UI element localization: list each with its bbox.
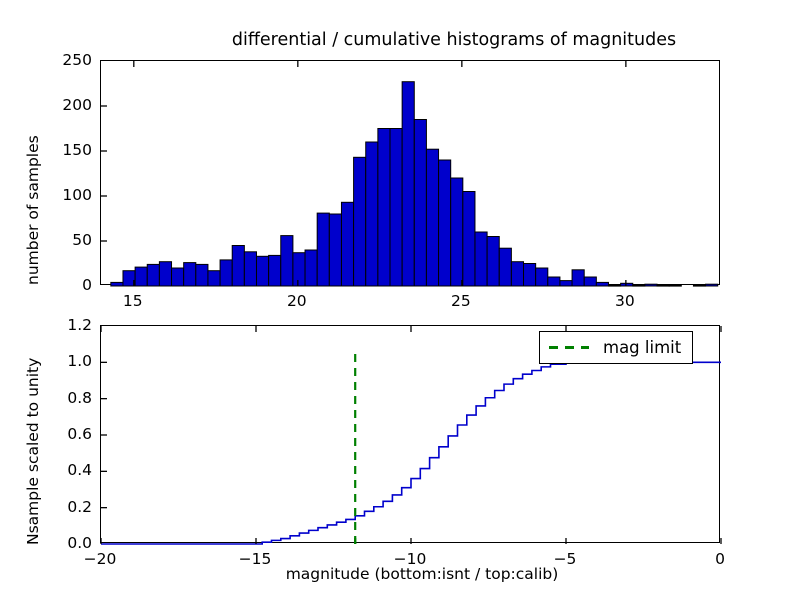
histogram-bar	[693, 285, 705, 286]
x-tick-label-top: 15	[123, 292, 143, 310]
x-tick-label-bottom: −20	[84, 550, 117, 568]
histogram-bar	[220, 260, 232, 286]
histogram-bar	[135, 267, 147, 286]
histogram-bar	[572, 270, 584, 286]
figure-canvas: differential / cumulative histograms of …	[0, 0, 800, 600]
histogram-bar	[560, 281, 572, 286]
histogram-bar	[293, 253, 305, 286]
x-tick-label-bottom: 0	[715, 550, 725, 568]
histogram-bar	[256, 256, 268, 286]
histogram-bar	[499, 248, 511, 286]
histogram-bar	[487, 237, 499, 287]
y-tick-label-bottom: 1.2	[40, 316, 92, 334]
histogram-bar	[511, 262, 523, 286]
histogram-bar	[706, 284, 718, 286]
legend-box: mag limit	[539, 331, 693, 364]
histogram-bar	[645, 284, 657, 286]
y-tick-label-top: 0	[40, 276, 92, 294]
histogram-bar	[439, 160, 451, 286]
histogram-bar	[596, 282, 608, 286]
y-tick-label-top: 150	[40, 141, 92, 159]
histogram-bar	[463, 192, 475, 287]
histogram-bar	[366, 142, 378, 286]
x-tick-label-top: 30	[615, 292, 635, 310]
mag-limit-legend-swatch	[549, 346, 589, 349]
histogram-bar	[184, 263, 196, 286]
y-tick-label-bottom: 0.6	[40, 425, 92, 443]
histogram-bar	[329, 214, 341, 286]
differential-histogram-plot	[101, 61, 721, 286]
histogram-bar	[147, 264, 159, 286]
histogram-bar	[305, 250, 317, 286]
histogram-bar	[354, 157, 366, 286]
x-tick-label-bottom: −15	[239, 550, 272, 568]
histogram-bar	[172, 268, 184, 286]
histogram-bar	[548, 277, 560, 286]
histogram-bar	[524, 264, 536, 287]
histogram-bar	[317, 213, 329, 286]
histogram-bar	[414, 120, 426, 287]
histogram-bar	[208, 271, 220, 286]
histogram-bar	[281, 236, 293, 286]
histogram-bar	[621, 283, 633, 286]
y-tick-label-bottom: 1.0	[40, 352, 92, 370]
y-axis-label-bottom: Nsample scaled to unity	[24, 358, 42, 545]
y-tick-label-top: 100	[40, 186, 92, 204]
x-tick-label-top: 20	[287, 292, 307, 310]
histogram-bar	[159, 262, 171, 286]
axes-differential-histogram	[100, 60, 720, 285]
histogram-bar	[244, 252, 256, 286]
x-tick-label-top: 25	[451, 292, 471, 310]
y-tick-label-bottom: 0.4	[40, 461, 92, 479]
histogram-bar	[451, 178, 463, 286]
histogram-bar	[232, 246, 244, 287]
y-tick-label-top: 50	[40, 231, 92, 249]
figure-title: differential / cumulative histograms of …	[0, 30, 800, 50]
histogram-bar	[111, 282, 123, 286]
histogram-bar	[475, 232, 487, 286]
figure-title-text: differential / cumulative histograms of …	[232, 30, 676, 50]
histogram-bar	[608, 285, 620, 286]
histogram-bar	[426, 149, 438, 286]
y-tick-label-top: 250	[40, 51, 92, 69]
histogram-bar	[390, 129, 402, 287]
y-tick-label-top: 200	[40, 96, 92, 114]
cumulative-curve	[101, 362, 721, 544]
histogram-bar	[196, 264, 208, 286]
histogram-bar	[341, 202, 353, 286]
histogram-bar	[378, 129, 390, 287]
histogram-bar	[633, 285, 645, 286]
histogram-bar	[536, 268, 548, 286]
histogram-bar	[669, 285, 681, 286]
x-tick-label-bottom: −10	[394, 550, 427, 568]
histogram-bar	[402, 82, 414, 286]
x-tick-label-bottom: −5	[554, 550, 577, 568]
y-tick-label-bottom: 0.2	[40, 498, 92, 516]
y-tick-label-bottom: 0.8	[40, 389, 92, 407]
histogram-bar	[657, 285, 669, 286]
histogram-bar	[584, 277, 596, 286]
legend-label-mag-limit: mag limit	[603, 338, 681, 357]
histogram-bar	[269, 255, 281, 286]
